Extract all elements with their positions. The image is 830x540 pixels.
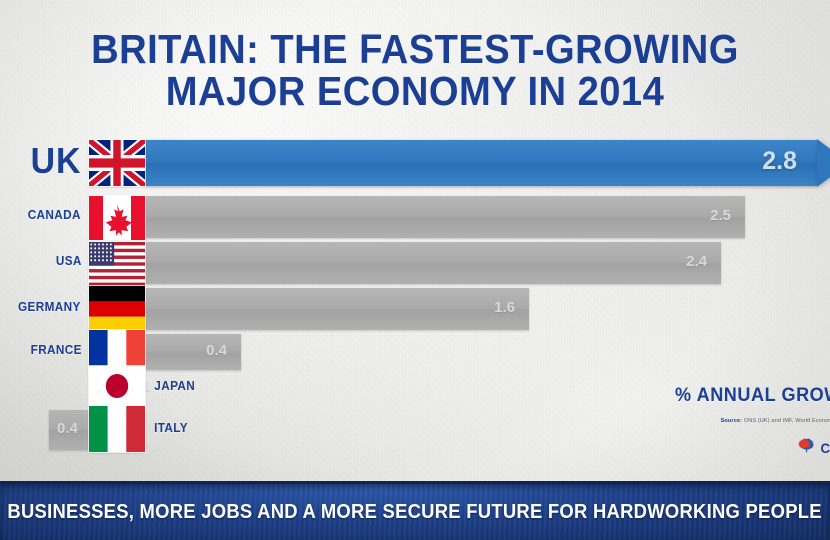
title-line-2: MAJOR ECONOMY IN 2014 <box>29 70 801 112</box>
flag-canada-icon <box>89 196 145 240</box>
flag-italy-icon <box>89 406 145 452</box>
bar-value-france: 0.4 <box>201 342 227 359</box>
bar-uk <box>145 140 817 186</box>
flag-germany-icon <box>89 286 145 332</box>
country-label-usa: USA <box>56 254 82 268</box>
chart-row-italy: 0.4ITALY <box>0 410 830 450</box>
source-prefix: Source: <box>721 418 743 424</box>
bar-chart: 2.8UK2.5CANADA2.4USA1.6GERMANY0.4FRANCE0… <box>0 138 830 468</box>
logo-text: Conservatives <box>820 440 830 456</box>
banner-text: BUSINESSES, MORE JOBS AND A MORE SECURE … <box>8 501 822 524</box>
chart-row-uk: 2.8UK <box>0 140 830 186</box>
source-note: Source: ONS (UK) and IMF, World Economy … <box>721 418 830 424</box>
country-label-uk: UK <box>31 140 82 182</box>
chart-row-canada: 2.5CANADA <box>0 196 830 238</box>
bar-canada <box>145 196 745 238</box>
oak-tree-icon <box>798 437 815 459</box>
infographic-canvas: BRITAIN: THE FASTEST-GROWING MAJOR ECONO… <box>0 0 830 540</box>
bar-value-canada: 2.5 <box>705 207 731 224</box>
country-label-canada: CANADA <box>28 208 81 222</box>
country-label-france: FRANCE <box>30 343 81 357</box>
flag-japan-icon <box>89 366 145 406</box>
conservatives-logo[interactable]: Conservatives <box>798 437 830 459</box>
bar-value-italy: 0.4 <box>57 420 87 437</box>
bar-value-uk: 2.8 <box>749 147 797 176</box>
source-text: ONS (UK) and IMF, World Economy Outlook,… <box>744 418 830 424</box>
bar-usa <box>145 242 721 284</box>
page-title: BRITAIN: THE FASTEST-GROWING MAJOR ECONO… <box>0 28 830 112</box>
chart-row-france: 0.4FRANCE <box>0 334 830 370</box>
country-label-japan: JAPAN <box>154 379 195 393</box>
chart-row-germany: 1.6GERMANY <box>0 288 830 330</box>
unit-label: % ANNUAL GROWTH <box>675 385 830 407</box>
bar-value-usa: 2.4 <box>681 253 707 270</box>
bar-germany <box>145 288 529 330</box>
bottom-banner: BUSINESSES, MORE JOBS AND A MORE SECURE … <box>0 481 830 540</box>
title-line-1: BRITAIN: THE FASTEST-GROWING <box>29 28 801 70</box>
country-label-italy: ITALY <box>154 421 188 435</box>
country-label-germany: GERMANY <box>18 300 81 314</box>
flag-usa-icon <box>89 242 145 286</box>
chart-row-usa: 2.4USA <box>0 242 830 284</box>
bar-value-germany: 1.6 <box>489 299 515 316</box>
flag-uk-icon <box>89 140 145 186</box>
bar-arrowhead-icon <box>817 139 830 187</box>
